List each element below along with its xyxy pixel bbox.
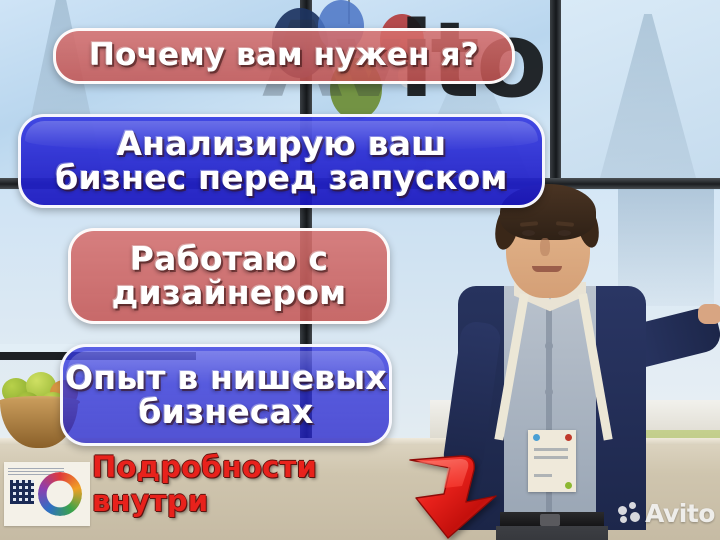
badge-text-line — [534, 448, 568, 451]
advertisement-image: Avito — [0, 0, 720, 540]
down-right-arrow-icon — [404, 452, 516, 540]
person-eye — [558, 230, 571, 236]
avito-dots-logo-icon — [618, 502, 640, 524]
belt-buckle — [540, 514, 560, 526]
headline-banner-4-text: Опыт в нишевых бизнесах — [65, 361, 387, 428]
headline-banner-2-text: Анализирую ваш бизнес перед запуском — [55, 127, 507, 194]
qr-code-icon — [10, 480, 34, 504]
person-hand — [698, 304, 720, 324]
cta-line: Подробности внутри — [92, 466, 422, 502]
badge-dot — [533, 434, 540, 441]
headline-banner-1: Почему вам нужен я? — [53, 28, 515, 84]
shirt-button — [545, 342, 553, 350]
headline-banner-3: Работаю с дизайнером — [68, 228, 390, 324]
headline-banner-3-text: Работаю с дизайнером — [112, 242, 347, 309]
badge-dot — [565, 434, 572, 441]
avito-watermark-text: Avito — [645, 499, 715, 528]
person-nose — [540, 238, 550, 256]
badge-dot — [565, 482, 572, 489]
headline-banner-4: Опыт в нишевых бизнесах — [60, 344, 392, 446]
shirt-button — [545, 388, 553, 396]
badge-text-line — [534, 474, 552, 477]
avito-watermark: Avito — [618, 498, 715, 528]
headline-banner-1-text: Почему вам нужен я? — [89, 40, 479, 72]
headline-banner-2: Анализирую ваш бизнес перед запуском — [18, 114, 545, 208]
badge-text-line — [534, 456, 568, 459]
rainbow-logo-icon — [38, 472, 82, 516]
cta-text: Подробности внутри — [92, 450, 422, 518]
person-eye — [522, 230, 535, 236]
person-mouth — [532, 266, 562, 272]
